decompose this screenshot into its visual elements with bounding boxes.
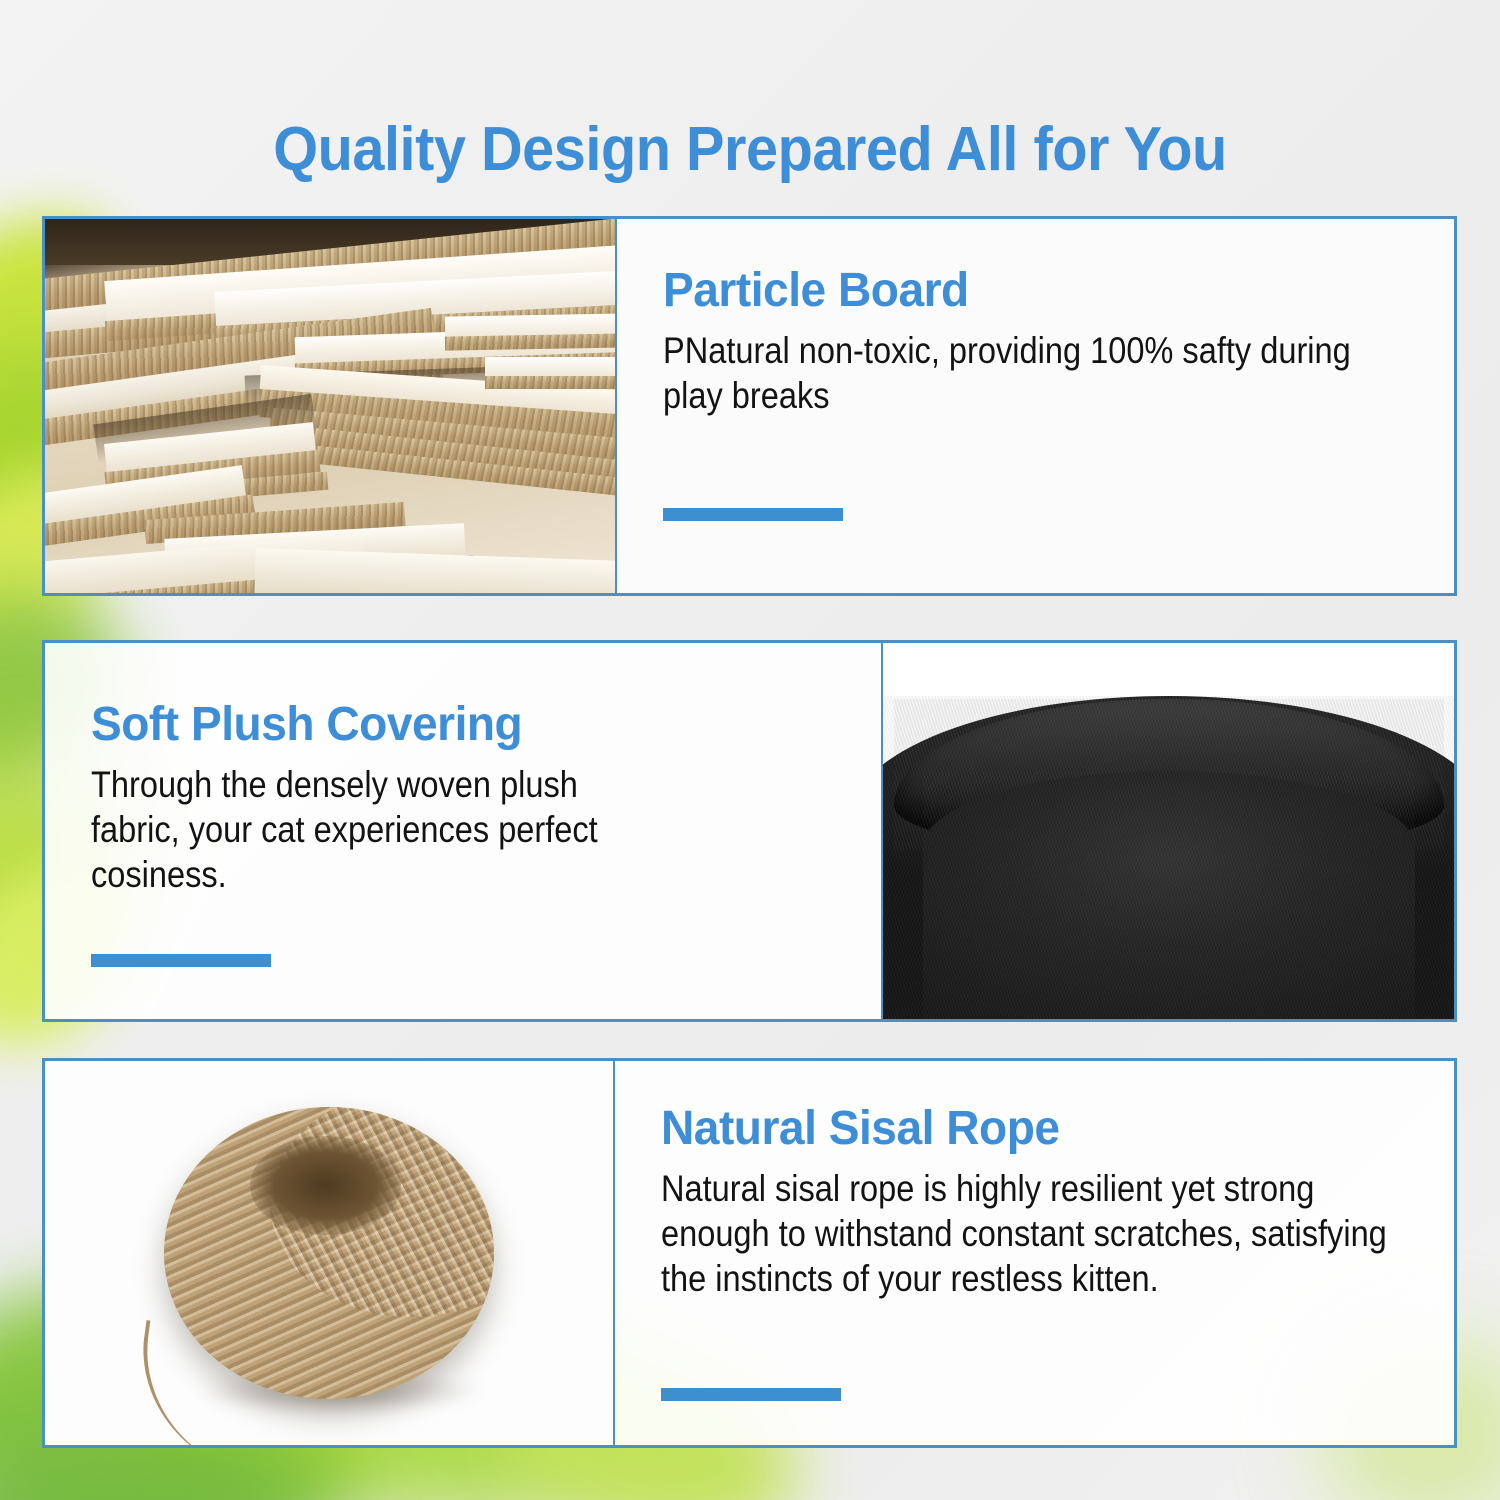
accent-bar [91,954,271,967]
card-body-soft-plush-covering: Soft Plush Covering Through the densely … [45,643,881,1019]
accent-bar [663,508,843,521]
feature-card-particle-board: Particle Board PNatural non-toxic, provi… [42,216,1457,596]
card-heading-soft-plush-covering: Soft Plush Covering [91,697,805,752]
black-plush-fabric-photo [883,643,1455,1019]
card-text-particle-board: PNatural non-toxic, providing 100% safty… [663,328,1404,418]
card-heading-particle-board: Particle Board [663,263,1378,318]
feature-card-natural-sisal-rope: Natural Sisal Rope Natural sisal rope is… [42,1058,1457,1448]
page-title: Quality Design Prepared All for You [53,114,1448,185]
card-body-particle-board: Particle Board PNatural non-toxic, provi… [617,219,1454,593]
card-heading-natural-sisal-rope: Natural Sisal Rope [661,1101,1378,1156]
card-text-soft-plush-covering: Through the densely woven plush fabric, … [91,762,628,897]
sisal-rope-ball-photo [45,1061,613,1445]
feature-card-soft-plush-covering: Soft Plush Covering Through the densely … [42,640,1457,1022]
accent-bar [661,1388,841,1401]
card-text-natural-sisal-rope: Natural sisal rope is highly resilient y… [661,1166,1404,1301]
particle-board-photo [45,219,615,593]
infographic-page: Quality Design Prepared All for You [0,0,1500,1500]
card-body-natural-sisal-rope: Natural Sisal Rope Natural sisal rope is… [615,1061,1454,1445]
